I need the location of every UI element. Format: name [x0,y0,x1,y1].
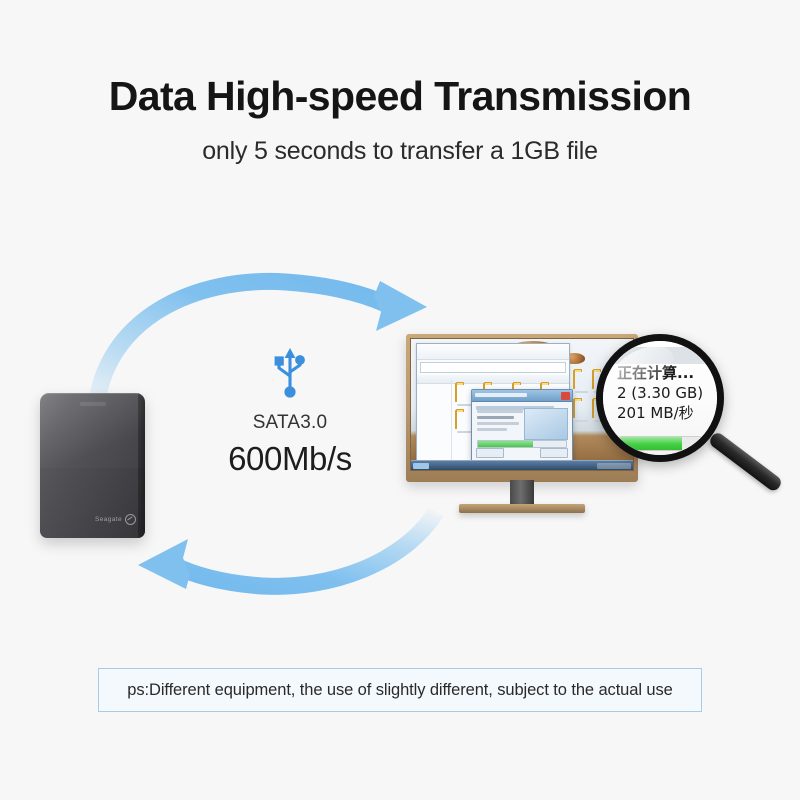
magnifier-lens: 正在计算... 2 (3.30 GB) 201 MB/秒 [596,334,724,462]
magnified-dialog-titlebar [603,347,717,364]
monitor-stand-neck [510,480,534,506]
transfer-speed-label: 600Mb/s [200,440,380,478]
product-infographic: Data High-speed Transmission only 5 seco… [0,0,800,800]
interface-standard-label: SATA3.0 [232,412,348,434]
monitor-stand-base [459,504,585,513]
magnifier-handle [707,431,783,494]
footnote-text: ps:Different equipment, the use of sligh… [127,681,672,700]
dialog-preview-image [524,408,568,440]
start-button-icon [413,463,429,469]
file-copy-dialog [471,389,573,463]
usb-trident-icon [267,346,313,402]
explorer-sidebar [417,380,452,466]
dialog-progress-bar [477,440,567,448]
dialog-titlebar [472,390,572,402]
folder-item [573,400,590,422]
drive-brand: Seagate [95,514,136,525]
explorer-titlebar [417,344,569,360]
footnote-box: ps:Different equipment, the use of sligh… [98,668,702,712]
magnified-progress-bar [619,436,701,451]
folder-item [573,371,590,393]
arrow-monitor-to-drive [138,512,436,589]
magnified-size-line: 2 (3.30 GB) [617,384,707,403]
drive-edge [138,393,145,538]
portable-hard-drive: Seagate [40,393,145,538]
interface-badge: SATA3.0 [232,346,348,434]
explorer-address-bar [420,362,566,373]
magnified-status-line: 正在计算... [617,364,707,383]
drive-brand-label: Seagate [95,516,122,523]
magnified-speed-line: 201 MB/秒 [617,404,707,423]
magnifier: 正在计算... 2 (3.30 GB) 201 MB/秒 [596,334,800,506]
close-icon [561,392,570,400]
seagate-logo-icon [125,514,136,525]
drive-top-notch [80,402,106,406]
dialog-buttons [476,448,568,458]
dialog-detail-rows [477,410,523,434]
